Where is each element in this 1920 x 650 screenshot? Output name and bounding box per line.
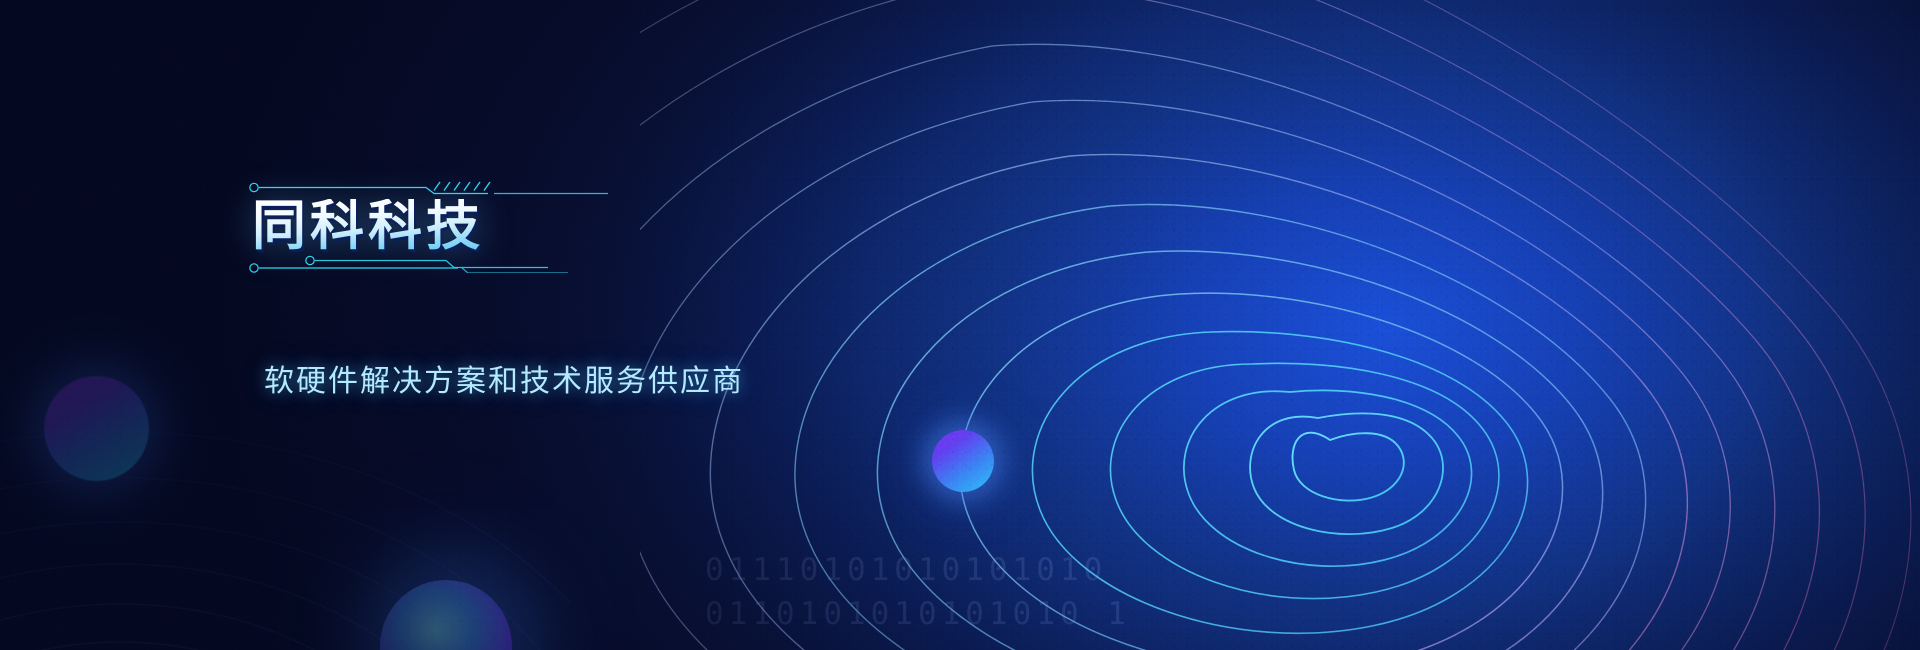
tech-line-bottom — [248, 255, 608, 273]
page-title: 同科科技 — [252, 199, 484, 253]
circle-node-left-icon — [250, 264, 258, 272]
circle-node-mid-icon — [306, 256, 314, 264]
page-subtitle: 软硬件解决方案和技术服务供应商 — [264, 364, 744, 400]
banner-content: 同科科技 软硬件解决方案和技术服务供应商 — [0, 0, 1920, 650]
hero-banner: 01110101010101010 0110101010101010 1 — [0, 0, 1920, 650]
circle-node-icon — [250, 183, 258, 191]
diagonal-hatch-icon — [434, 182, 490, 191]
